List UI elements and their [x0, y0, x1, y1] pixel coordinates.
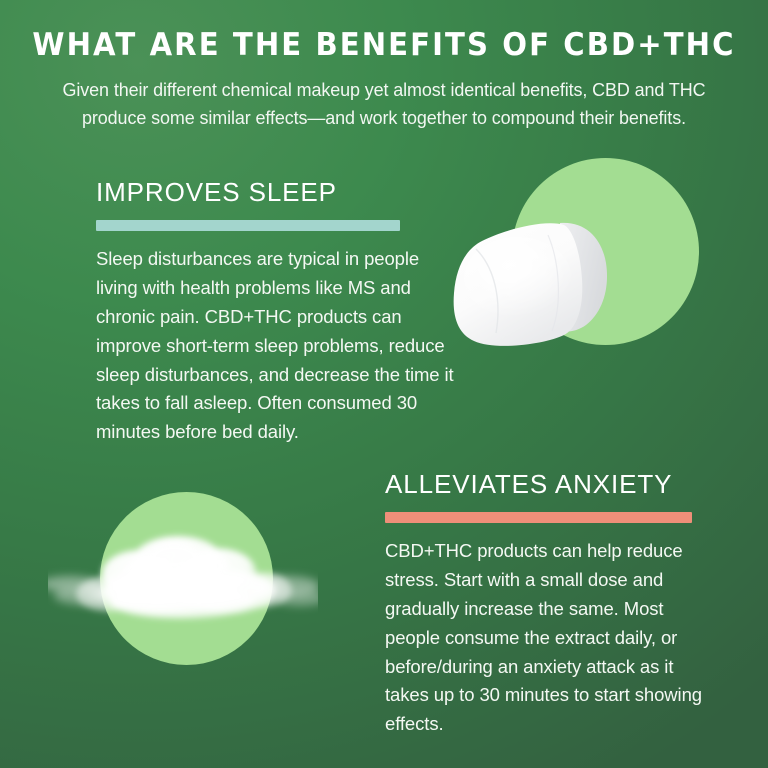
section-improves-sleep: IMPROVES SLEEP Sleep disturbances are ty… — [96, 178, 462, 447]
section-heading-alleviates-anxiety: ALLEVIATES ANXIETY — [385, 470, 715, 499]
section-rule-improves-sleep — [96, 220, 400, 231]
section-body-improves-sleep: Sleep disturbances are typical in people… — [96, 231, 456, 447]
section-heading-improves-sleep: IMPROVES SLEEP — [96, 178, 462, 207]
page-title: WHAT ARE THE BENEFITS OF CBD+THC — [23, 0, 745, 62]
section-rule-alleviates-anxiety — [385, 512, 692, 523]
section-body-alleviates-anxiety: CBD+THC products can help reduce stress.… — [385, 523, 715, 739]
header: WHAT ARE THE BENEFITS OF CBD+THC Given t… — [0, 0, 768, 132]
pillow-illustration — [452, 205, 652, 365]
infographic-canvas: WHAT ARE THE BENEFITS OF CBD+THC Given t… — [0, 0, 768, 768]
page-subtitle: Given their different chemical makeup ye… — [12, 62, 757, 132]
cloud-illustration — [48, 528, 318, 638]
section-alleviates-anxiety: ALLEVIATES ANXIETY CBD+THC products can … — [385, 470, 715, 739]
